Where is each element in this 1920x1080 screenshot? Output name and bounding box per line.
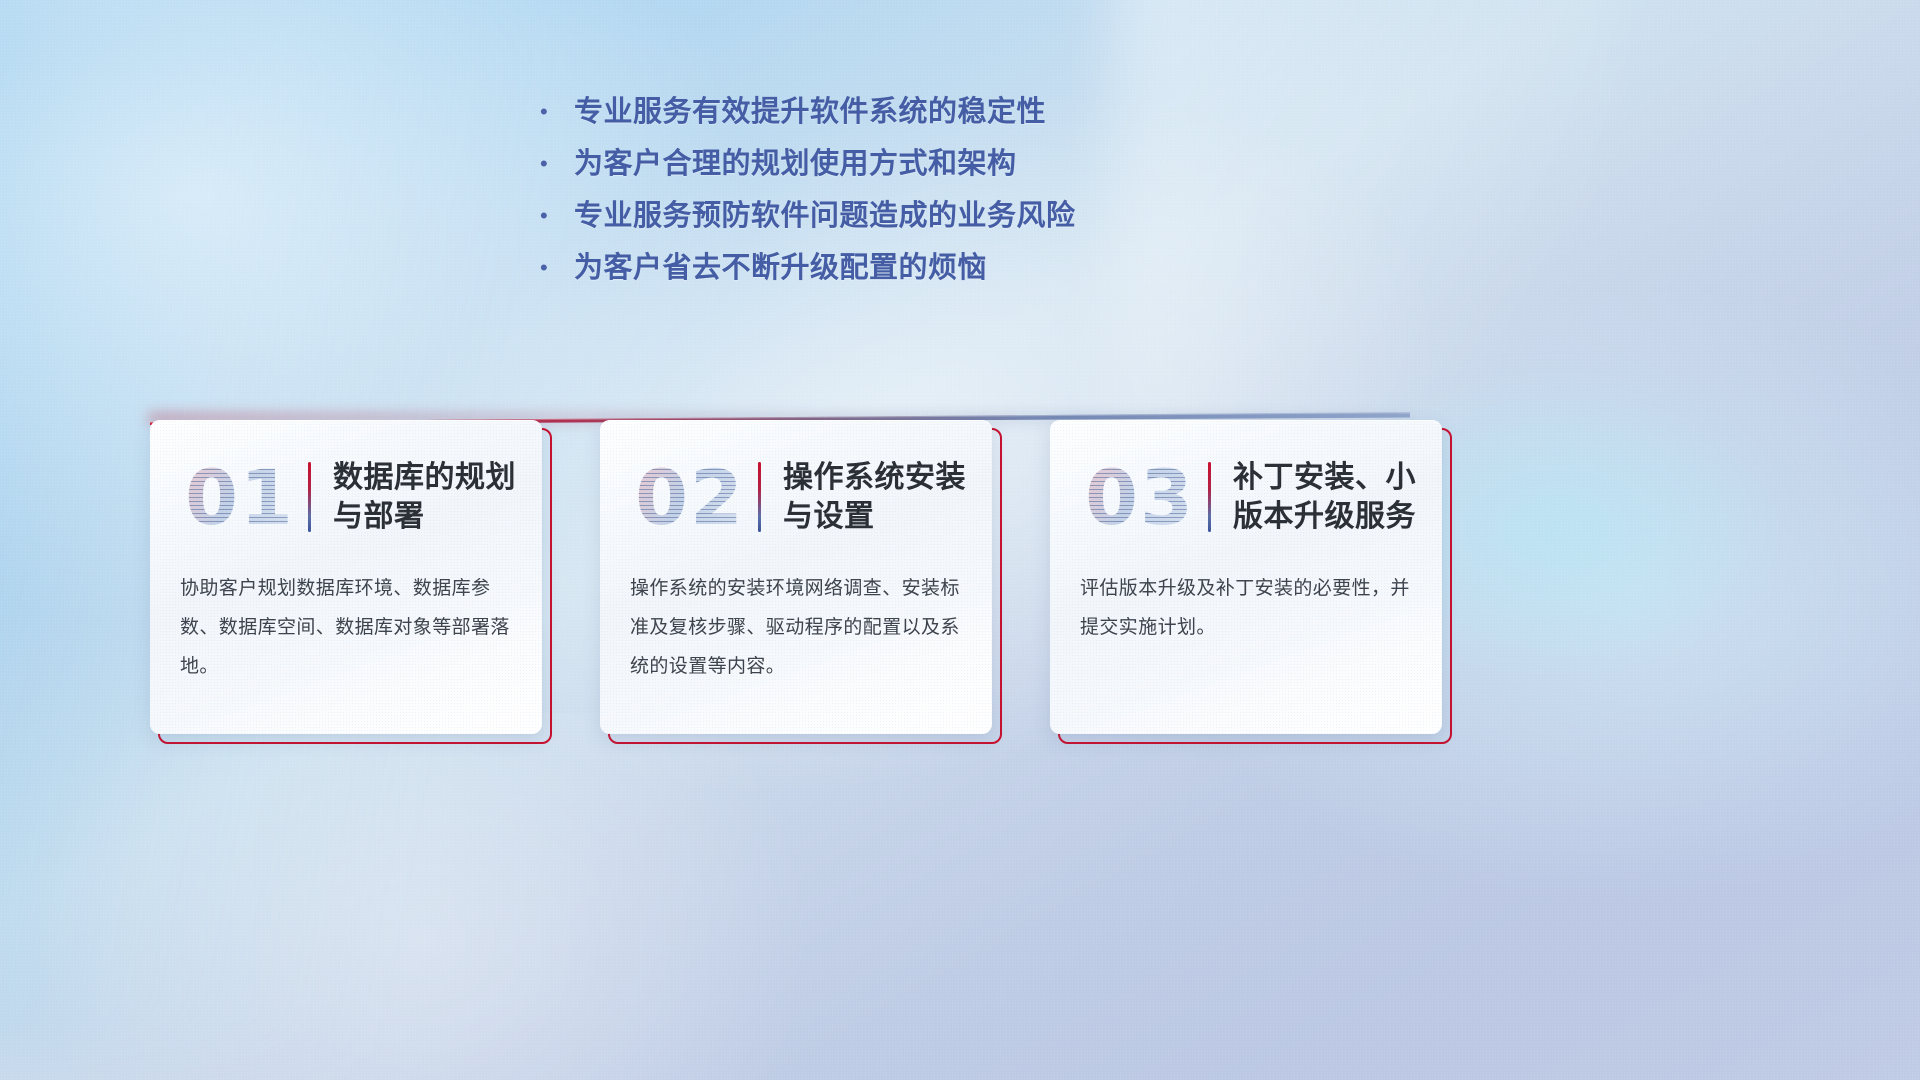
card-body-text: 评估版本升级及补丁安装的必要性，并提交实施计划。 (1080, 570, 1412, 648)
card-number-watermark: 01 (174, 449, 306, 545)
card-face: 01 数据库的规划与部署 协助客户规划数据库环境、数据库参数、数据库空间、数据库… (150, 420, 542, 734)
card-face: 03 补丁安装、小版本升级服务 评估版本升级及补丁安装的必要性，并提交实施计划。 (1050, 420, 1442, 734)
card-header: 03 补丁安装、小版本升级服务 (1050, 442, 1442, 552)
benefits-bullet-list: • 专业服务有效提升软件系统的稳定性 • 为客户合理的规划使用方式和架构 • 专… (540, 88, 1400, 296)
card-accent-rule (308, 462, 311, 532)
bullet-dot-icon: • (540, 153, 574, 175)
card-header: 01 数据库的规划与部署 (150, 442, 542, 552)
card-accent-rule (758, 462, 761, 532)
service-card[interactable]: 03 补丁安装、小版本升级服务 评估版本升级及补丁安装的必要性，并提交实施计划。 (1050, 420, 1450, 742)
card-number-watermark: 03 (1074, 449, 1206, 545)
card-body-text: 操作系统的安装环境网络调查、安装标准及复核步骤、驱动程序的配置以及系统的设置等内… (630, 570, 962, 687)
bullet-item: • 为客户合理的规划使用方式和架构 (540, 140, 1400, 192)
card-number-text: 02 (635, 453, 745, 542)
bullet-item: • 专业服务有效提升软件系统的稳定性 (540, 88, 1400, 140)
service-card[interactable]: 01 数据库的规划与部署 协助客户规划数据库环境、数据库参数、数据库空间、数据库… (150, 420, 550, 742)
card-title: 操作系统安装与设置 (783, 458, 992, 536)
card-accent-rule (1208, 462, 1211, 532)
card-title: 补丁安装、小版本升级服务 (1233, 458, 1442, 536)
card-face: 02 操作系统安装与设置 操作系统的安装环境网络调查、安装标准及复核步骤、驱动程… (600, 420, 992, 734)
card-header: 02 操作系统安装与设置 (600, 442, 992, 552)
bullet-item-label: 为客户合理的规划使用方式和架构 (574, 140, 1017, 182)
card-number-text: 03 (1085, 453, 1195, 542)
bullet-item: • 为客户省去不断升级配置的烦恼 (540, 244, 1400, 296)
card-number-text: 01 (185, 453, 295, 542)
bullet-item-label: 为客户省去不断升级配置的烦恼 (574, 244, 987, 286)
service-card[interactable]: 02 操作系统安装与设置 操作系统的安装环境网络调查、安装标准及复核步骤、驱动程… (600, 420, 1000, 742)
card-title: 数据库的规划与部署 (333, 458, 542, 536)
bullet-item-label: 专业服务预防软件问题造成的业务风险 (574, 192, 1076, 234)
card-number-watermark: 02 (624, 449, 756, 545)
bullet-dot-icon: • (540, 205, 574, 227)
service-card-row: 01 数据库的规划与部署 协助客户规划数据库环境、数据库参数、数据库空间、数据库… (150, 420, 1450, 750)
bullet-item: • 专业服务预防软件问题造成的业务风险 (540, 192, 1400, 244)
bullet-item-label: 专业服务有效提升软件系统的稳定性 (574, 88, 1046, 130)
bullet-dot-icon: • (540, 101, 574, 123)
card-body-text: 协助客户规划数据库环境、数据库参数、数据库空间、数据库对象等部署落地。 (180, 570, 512, 687)
bullet-dot-icon: • (540, 257, 574, 279)
